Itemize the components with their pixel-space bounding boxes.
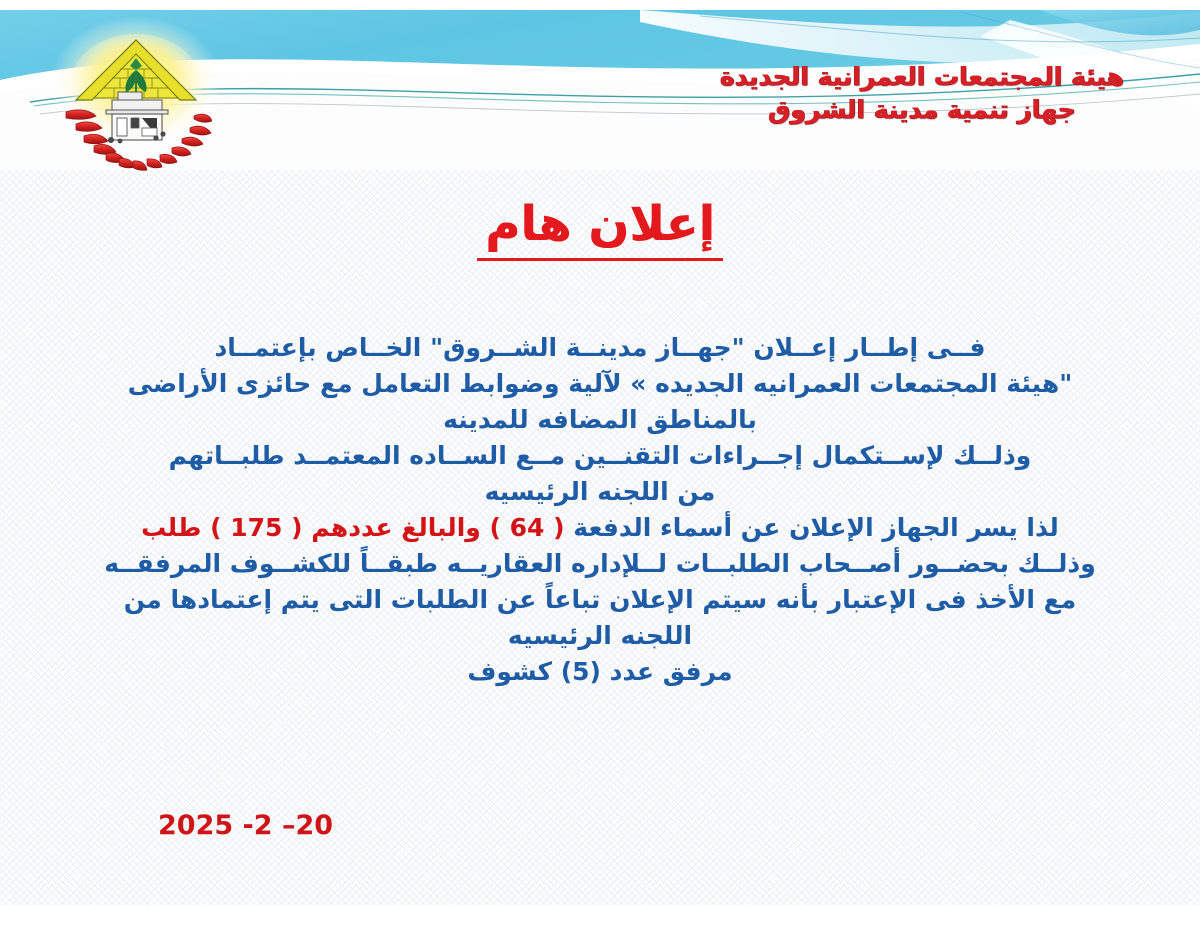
body-line: اللجنه الرئيسيه: [62, 618, 1138, 654]
body-line: وذلــك بحضــور أصــحاب الطلبــات لــلإدا…: [62, 546, 1138, 582]
batch-count-highlight: ( 64 ) والبالغ عددهم ( 175 ) طلب: [141, 513, 564, 542]
logo-building: [106, 92, 168, 143]
authority-logo: [62, 28, 212, 183]
announcement-date: 2025 -2 –20: [158, 810, 333, 841]
body-line: "هيئة المجتمعات العمرانيه الجديده » لآلي…: [62, 366, 1138, 402]
batch-announcement-text: لذا يسر الجهاز الإعلان عن أسماء الدفعة: [565, 513, 1059, 542]
logo-icon: [62, 28, 212, 183]
body-line: بالمناطق المضافه للمدينه: [62, 402, 1138, 438]
announcement-page: هيئة المجتمعات العمرانية الجديدة جهاز تن…: [0, 0, 1200, 928]
body-paragraph-2: وذلــك لإســتكمال إجــراءات التقنــين مـ…: [62, 438, 1138, 510]
header-title-block: هيئة المجتمعات العمرانية الجديدة جهاز تن…: [662, 62, 1182, 125]
body-line: مع الأخذ فى الإعتبار بأنه سيتم الإعلان ت…: [62, 582, 1138, 618]
body-line: مرفق عدد (5) كشوف: [62, 654, 1138, 690]
body-paragraph-3-highlight: لذا يسر الجهاز الإعلان عن أسماء الدفعة (…: [62, 510, 1138, 546]
announcement-title: إعلان هام: [477, 196, 723, 261]
header-department-line: جهاز تنمية مدينة الشروق: [662, 95, 1182, 126]
announcement-body: فــى إطــار إعــلان "جهــاز مدينــة الشـ…: [62, 330, 1138, 690]
body-paragraph-5-attachments: مرفق عدد (5) كشوف: [62, 654, 1138, 690]
body-line-mixed: لذا يسر الجهاز الإعلان عن أسماء الدفعة (…: [62, 510, 1138, 546]
announcement-title-container: إعلان هام: [0, 196, 1200, 261]
body-paragraph-4: وذلــك بحضــور أصــحاب الطلبــات لــلإدا…: [62, 546, 1138, 654]
body-line: من اللجنه الرئيسيه: [62, 474, 1138, 510]
body-line: وذلــك لإســتكمال إجــراءات التقنــين مـ…: [62, 438, 1138, 474]
body-line: فــى إطــار إعــلان "جهــاز مدينــة الشـ…: [62, 330, 1138, 366]
header-organization-line: هيئة المجتمعات العمرانية الجديدة: [662, 62, 1182, 93]
body-paragraph-1: فــى إطــار إعــلان "جهــاز مدينــة الشـ…: [62, 330, 1138, 438]
